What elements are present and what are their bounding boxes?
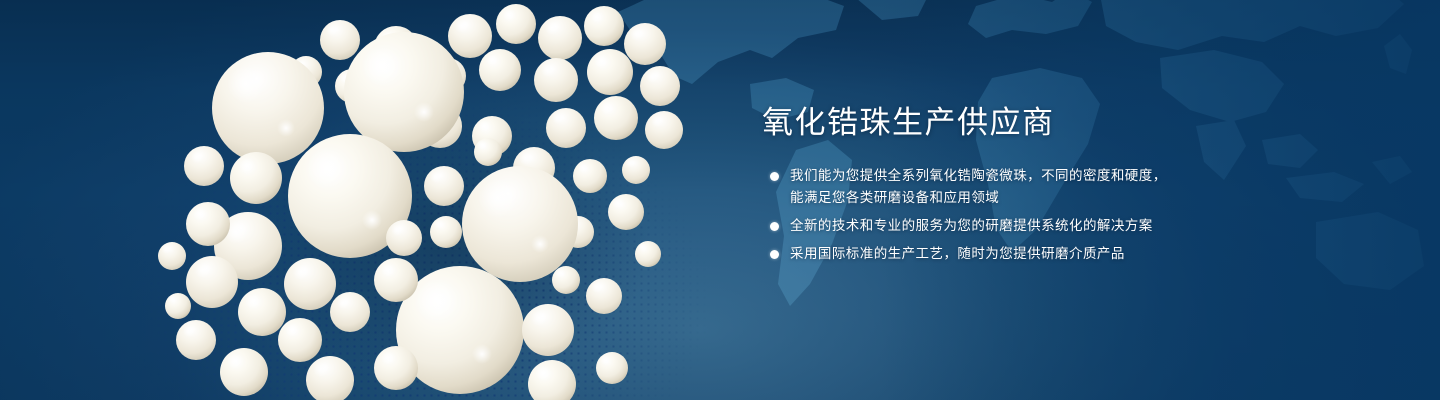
bullet-dot-icon [770,250,779,259]
list-item-line: 全新的技术和专业的服务为您的研磨提供系统化的解决方案 [790,215,1382,237]
list-item: 采用国际标准的生产工艺，随时为您提供研磨介质产品 [762,243,1382,265]
zirconia-beads-image [0,0,760,400]
list-item-line: 能满足您各类研磨设备和应用领域 [790,187,1382,209]
banner-copy: 氧化锆珠生产供应商 我们能为您提供全系列氧化锆陶瓷微珠，不同的密度和硬度， 能满… [762,104,1382,265]
bullet-dot-icon [770,222,779,231]
page-title: 氧化锆珠生产供应商 [762,104,1382,143]
feature-list: 我们能为您提供全系列氧化锆陶瓷微珠，不同的密度和硬度， 能满足您各类研磨设备和应… [762,165,1382,265]
list-item-line: 我们能为您提供全系列氧化锆陶瓷微珠，不同的密度和硬度， [790,165,1382,187]
list-item: 全新的技术和专业的服务为您的研磨提供系统化的解决方案 [762,215,1382,237]
hero-banner: 氧化锆珠生产供应商 我们能为您提供全系列氧化锆陶瓷微珠，不同的密度和硬度， 能满… [0,0,1440,400]
list-item: 我们能为您提供全系列氧化锆陶瓷微珠，不同的密度和硬度， 能满足您各类研磨设备和应… [762,165,1382,209]
list-item-line: 采用国际标准的生产工艺，随时为您提供研磨介质产品 [790,243,1382,265]
bullet-dot-icon [770,172,779,181]
